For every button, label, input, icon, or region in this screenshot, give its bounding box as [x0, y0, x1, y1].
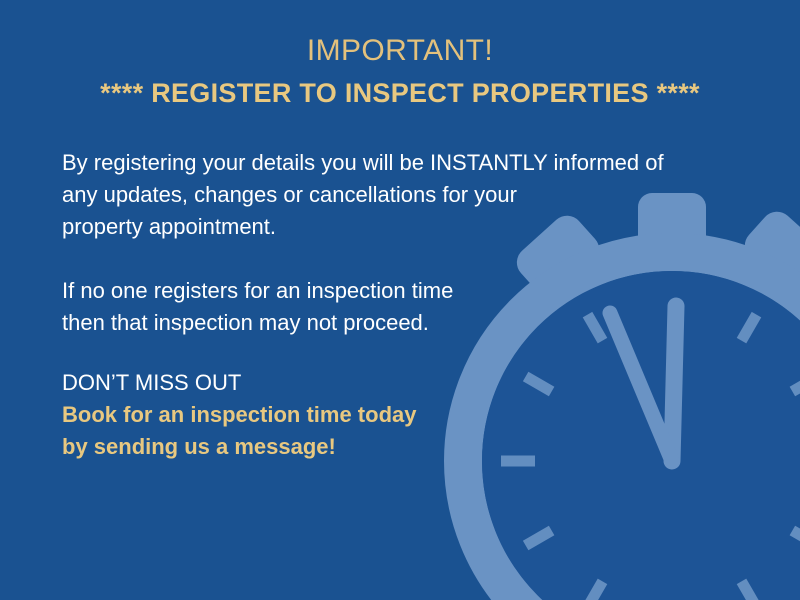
slide-canvas: IMPORTANT! **** REGISTER TO INSPECT PROP… — [0, 0, 800, 600]
cta-line-message: by sending us a message! — [62, 431, 336, 463]
page-subtitle: **** REGISTER TO INSPECT PROPERTIES **** — [0, 76, 800, 110]
body-paragraph-2: If no one registers for an inspection ti… — [62, 275, 453, 339]
cta-line-book: Book for an inspection time today — [62, 399, 416, 431]
slide-text-layer: IMPORTANT! **** REGISTER TO INSPECT PROP… — [0, 0, 800, 600]
body-paragraph-1: By registering your details you will be … — [62, 147, 664, 243]
cta-headline: DON’T MISS OUT — [62, 367, 241, 399]
page-title: IMPORTANT! — [0, 33, 800, 69]
